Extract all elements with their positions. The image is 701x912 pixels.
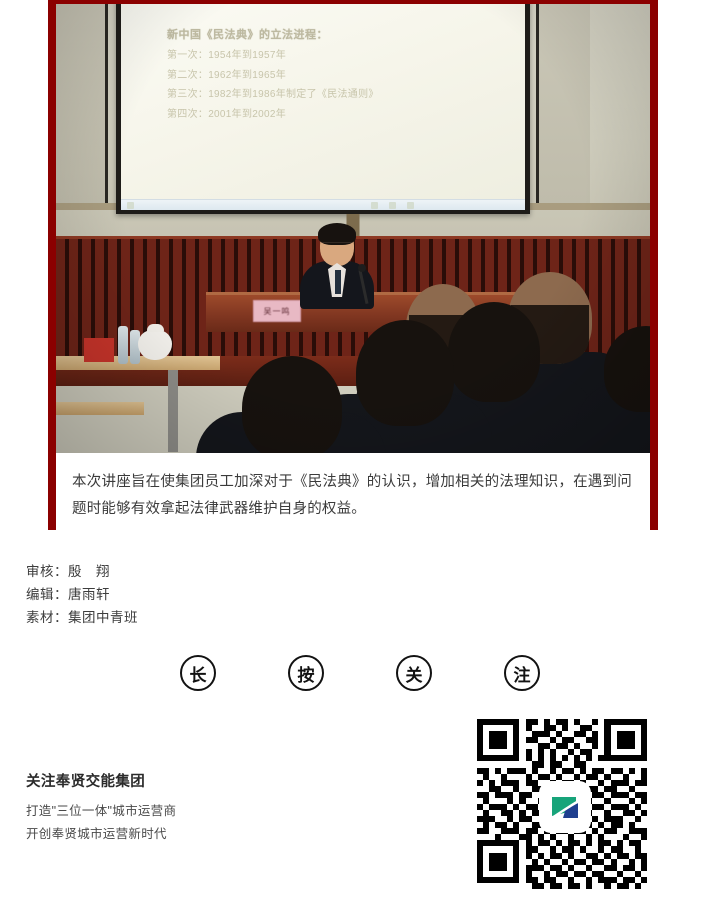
teapot: [138, 330, 172, 360]
brand-logo-icon: [542, 784, 588, 830]
table-leg: [168, 370, 178, 452]
taskbar-icon-app-1: [371, 202, 378, 209]
slide-line-3: 第三次：1982年到1986年制定了《民法通则》: [167, 85, 499, 105]
brand-title: 关注奉贤交能集团: [26, 770, 176, 791]
audience-head-5: [242, 356, 342, 453]
taskbar-icon-app-3: [407, 202, 414, 209]
speaker-tie: [335, 270, 341, 294]
slide-taskbar: [121, 199, 525, 210]
credits-block: 审核：殷 翔 编辑：唐雨轩 素材：集团中青班: [26, 560, 138, 630]
qr-code[interactable]: [472, 714, 658, 900]
article-card: 新中国《民法典》的立法进程： 第一次：1954年到1957年 第二次：1962年…: [48, 0, 658, 530]
slide-line-4: 第四次：2001年到2002年: [167, 105, 499, 125]
wall-panel-left: [56, 4, 108, 203]
speaker-nameplate: 吴一鸣: [253, 300, 301, 322]
teapot-lid: [147, 324, 164, 332]
slide-line-2: 第二次：1962年到1965年: [167, 66, 499, 86]
red-box: [84, 338, 114, 362]
slide-content: 新中国《民法典》的立法进程： 第一次：1954年到1957年 第二次：1962年…: [167, 25, 499, 124]
water-bottle-1: [118, 326, 128, 364]
audience-head-3: [448, 302, 540, 402]
lecture-photo: 新中国《民法典》的立法进程： 第一次：1954年到1957年 第二次：1962年…: [56, 4, 650, 453]
wall-panel-right: [536, 4, 590, 203]
logo-mark: [546, 788, 584, 826]
circled-char-guan: 关: [396, 655, 432, 691]
side-table-lower: [56, 402, 144, 415]
slide-title: 新中国《民法典》的立法进程：: [167, 25, 499, 46]
credit-source: 素材：集团中青班: [26, 606, 138, 629]
circled-char-zhu: 注: [504, 655, 540, 691]
projector-screen: 新中国《民法典》的立法进程： 第一次：1954年到1957年 第二次：1962年…: [116, 4, 530, 214]
speaker-glasses: [322, 242, 352, 248]
long-press-follow-row: 长 按 关 注: [180, 655, 540, 691]
microphone-head: [358, 264, 366, 272]
brand-slogan-1: 打造"三位一体"城市运营商: [26, 800, 176, 823]
circled-char-chang: 长: [180, 655, 216, 691]
article-page: 新中国《民法典》的立法进程： 第一次：1954年到1957年 第二次：1962年…: [0, 0, 701, 912]
slide-line-1: 第一次：1954年到1957年: [167, 46, 499, 66]
brand-block: 关注奉贤交能集团 打造"三位一体"城市运营商 开创奉贤城市运营新时代: [26, 770, 176, 846]
brand-slogan-2: 开创奉贤城市运营新时代: [26, 823, 176, 846]
taskbar-icon-app-2: [389, 202, 396, 209]
credit-reviewer: 审核：殷 翔: [26, 560, 138, 583]
article-caption: 本次讲座旨在使集团员工加深对于《民法典》的认识，增加相关的法理知识，在遇到问题时…: [56, 453, 650, 537]
projector-screen-surface: 新中国《民法典》的立法进程： 第一次：1954年到1957年 第二次：1962年…: [121, 4, 525, 210]
audience-head-4: [356, 320, 454, 426]
credit-editor: 编辑：唐雨轩: [26, 583, 138, 606]
taskbar-icon-start: [127, 202, 134, 209]
circled-char-an: 按: [288, 655, 324, 691]
speaker: [300, 226, 374, 306]
